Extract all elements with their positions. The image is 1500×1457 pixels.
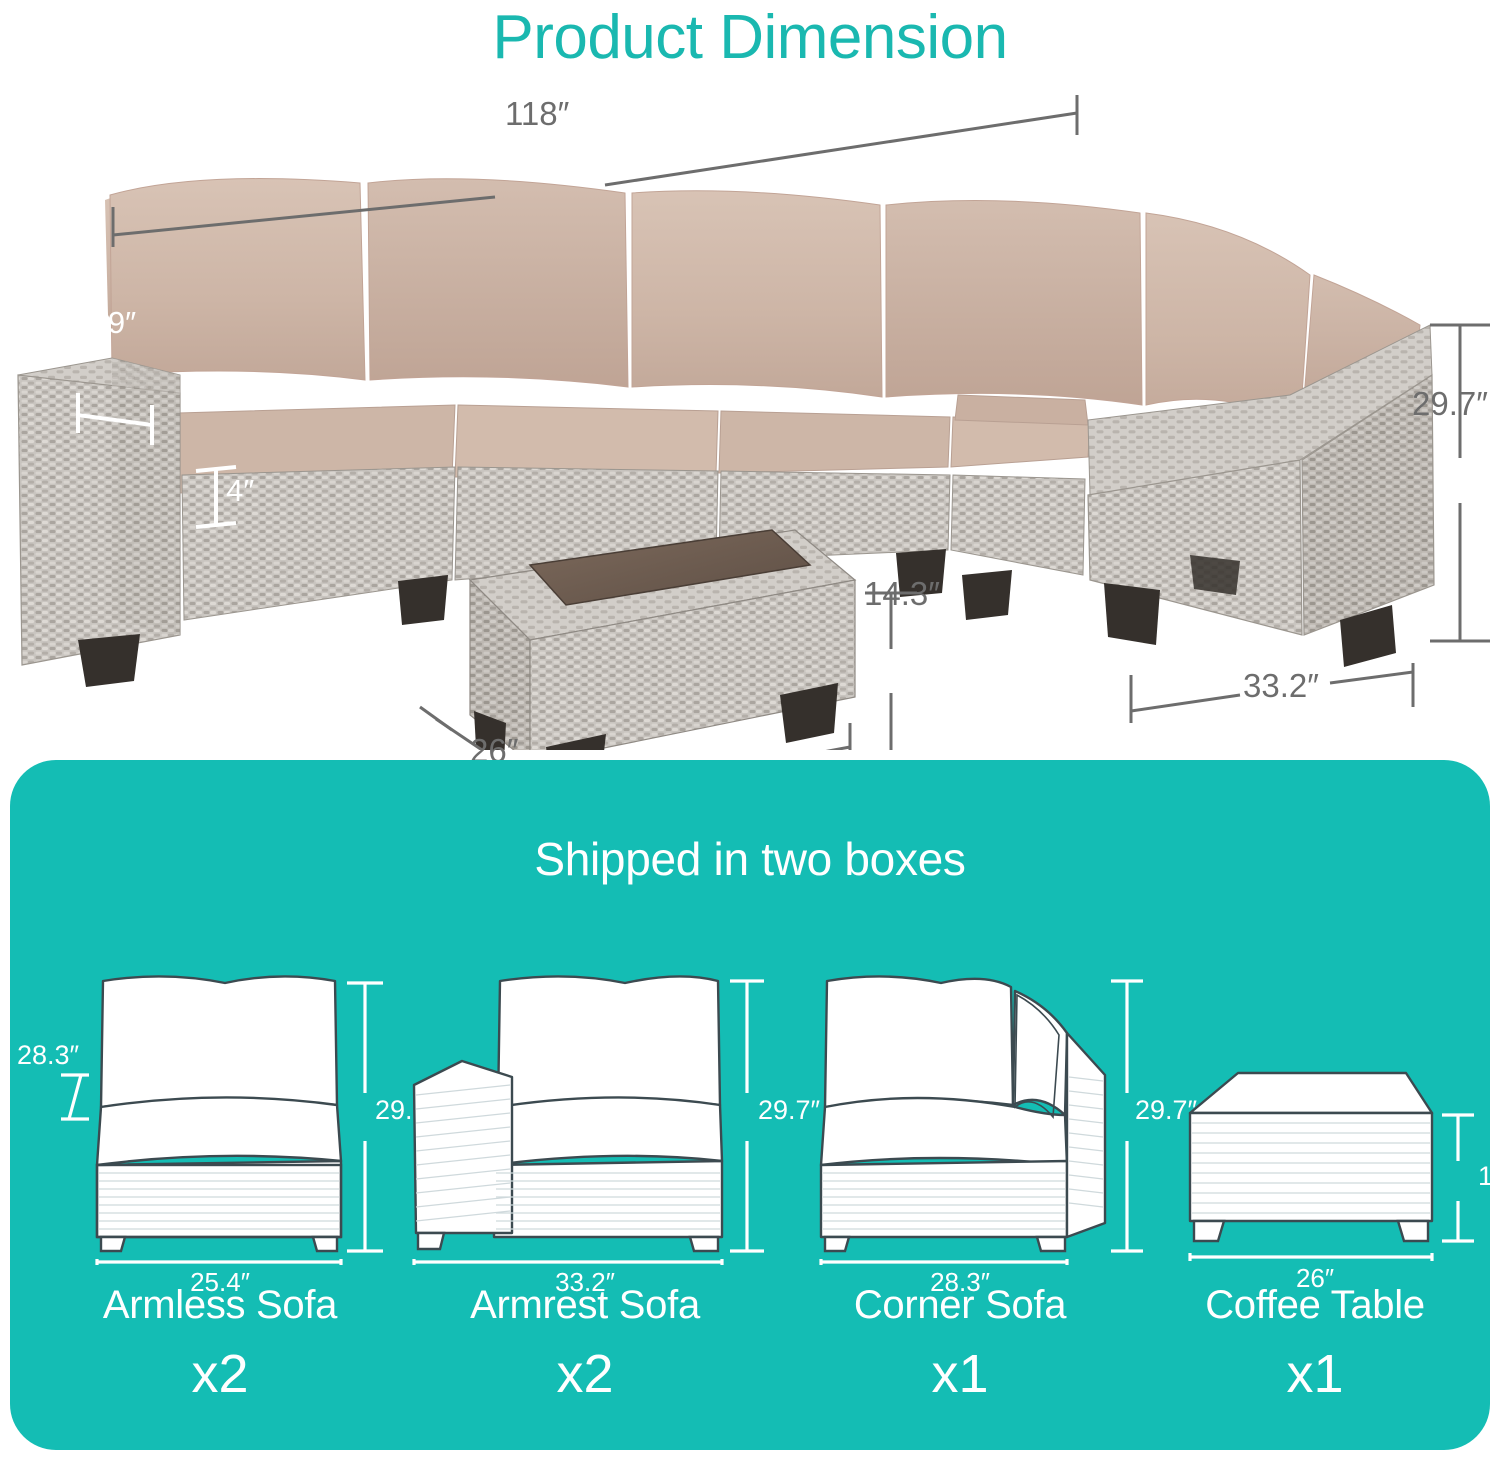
armless-sofa-qty: x2 bbox=[35, 1343, 405, 1405]
dimension-armrest-width: 4.9″ bbox=[82, 305, 136, 341]
armless-seat-depth-label: 28.3″ bbox=[17, 1040, 79, 1071]
armrest-sofa-qty: x2 bbox=[400, 1343, 770, 1405]
shipping-item-corner-sofa: 29.7″ 28.3″ Corner Sofa x1 bbox=[775, 965, 1145, 1450]
armless-sofa-drawing bbox=[35, 965, 405, 1265]
shipping-panel-title: Shipped in two boxes bbox=[10, 832, 1490, 886]
armrest-sofa-name: Armrest Sofa bbox=[400, 1283, 770, 1328]
dimension-cushion-thickness: 4″ bbox=[226, 473, 254, 509]
corner-sofa-name: Corner Sofa bbox=[775, 1283, 1145, 1328]
corner-sofa-qty: x1 bbox=[775, 1343, 1145, 1405]
coffee-table-height-label: 14.3″ bbox=[1478, 1161, 1500, 1192]
dimension-overall-width: 118″ bbox=[505, 95, 569, 133]
dimension-side-depth: 33.2″ bbox=[1243, 667, 1319, 705]
shipping-item-coffee-table: 14.3″ 26″ Coffee Table x1 bbox=[1130, 965, 1500, 1450]
page-title: Product Dimension bbox=[0, 2, 1500, 73]
coffee-table-qty: x1 bbox=[1130, 1343, 1500, 1405]
shipping-item-armless-sofa: 28.3″ 29.7″ 25.4″ Armless Sofa x2 bbox=[35, 965, 405, 1450]
dimension-table-height: 14.3″ bbox=[864, 575, 940, 613]
coffee-table-name: Coffee Table bbox=[1130, 1283, 1500, 1328]
shipping-item-armrest-sofa: 29.7″ 33.2″ Armrest Sofa x2 bbox=[400, 965, 770, 1450]
shipping-panel: Shipped in two boxes bbox=[10, 760, 1490, 1450]
product-photo-panel: 118″ 4.9″ 4″ 29.7″ 33.2″ 14.3″ 26″ 26″ bbox=[0, 75, 1500, 750]
dimension-overall-height: 29.7″ bbox=[1412, 385, 1488, 423]
armless-sofa-name: Armless Sofa bbox=[35, 1283, 405, 1328]
coffee-table-drawing bbox=[1130, 965, 1500, 1265]
sectional-sofa-illustration bbox=[0, 75, 1500, 750]
corner-sofa-drawing bbox=[775, 965, 1145, 1265]
armrest-sofa-drawing bbox=[400, 965, 770, 1265]
